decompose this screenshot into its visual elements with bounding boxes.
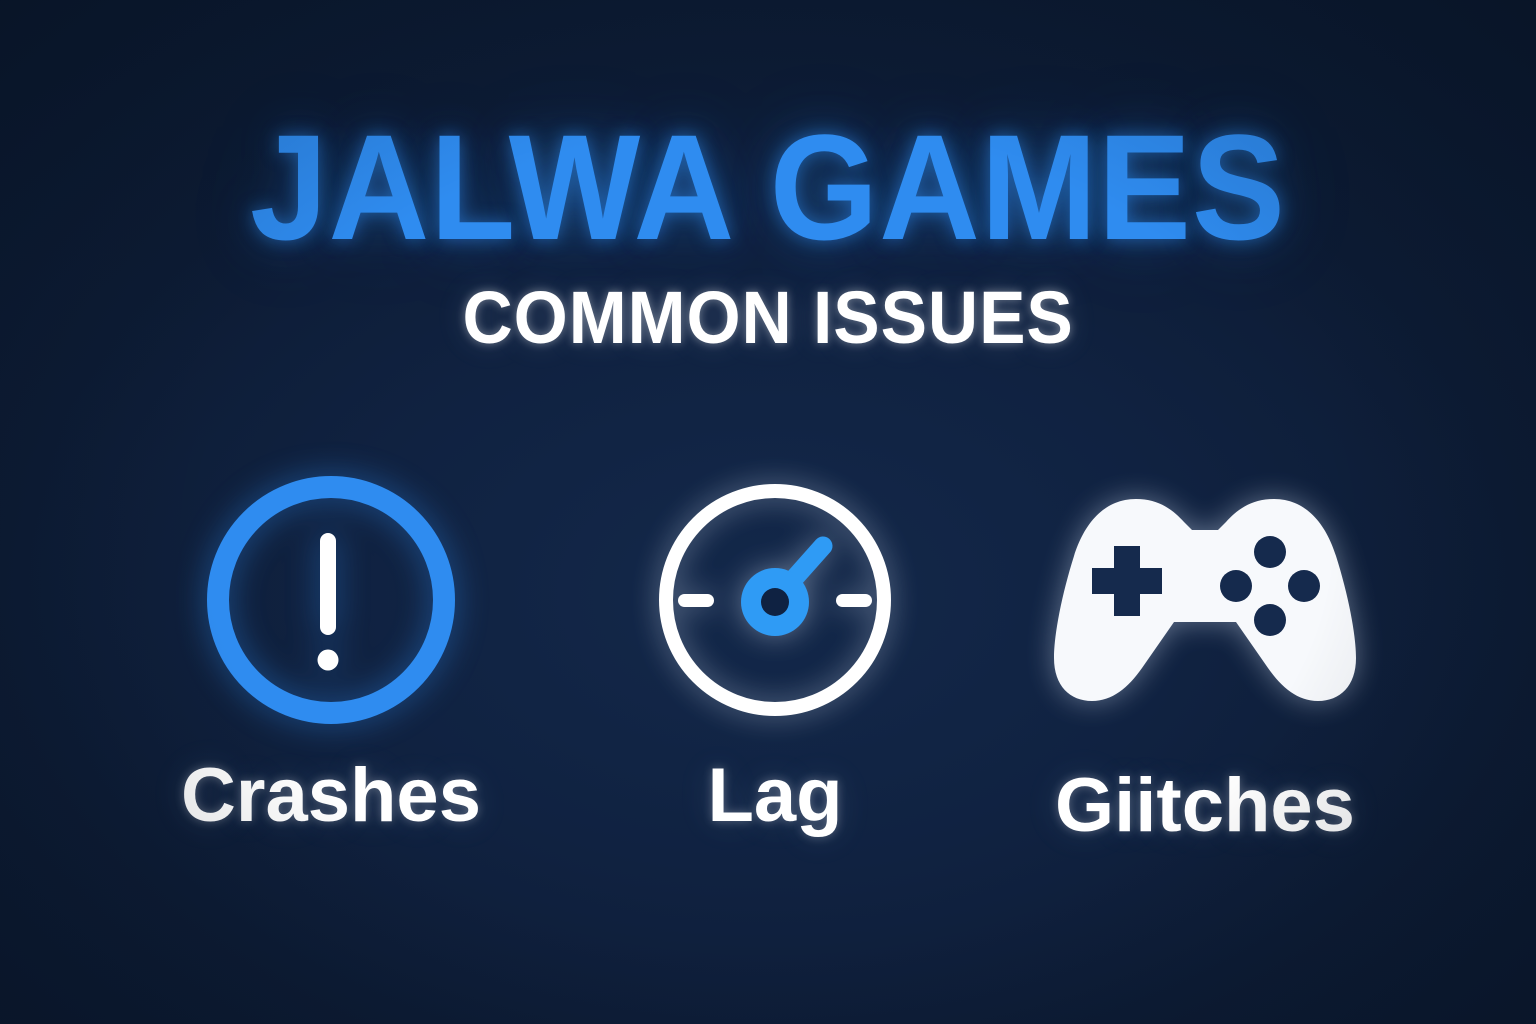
issue-item-glitches[interactable]: Giitches — [1005, 470, 1405, 844]
page-subtitle: COMMON ISSUES — [462, 281, 1073, 355]
warning-exclamation-circle-icon — [207, 476, 455, 724]
subtitle-block: COMMON ISSUES — [0, 281, 1536, 355]
page-title: JALWA GAMES — [250, 112, 1286, 262]
issue-label-glitches: Giitches — [1005, 768, 1405, 844]
issue-icon-container — [575, 470, 975, 730]
issue-label-crashes: Crashes — [131, 758, 531, 834]
issue-icon-container — [131, 470, 531, 730]
issue-item-lag[interactable]: Lag — [575, 470, 975, 834]
gamepad-controller-icon — [1040, 494, 1370, 706]
poster-canvas: JALWA GAMES COMMON ISSUES Crashes — [0, 0, 1536, 1024]
speedometer-gauge-icon — [655, 480, 895, 720]
issue-label-lag: Lag — [575, 758, 975, 834]
title-block: JALWA GAMES — [0, 112, 1536, 262]
issue-icon-container — [1005, 470, 1405, 730]
issue-item-crashes[interactable]: Crashes — [131, 470, 531, 834]
